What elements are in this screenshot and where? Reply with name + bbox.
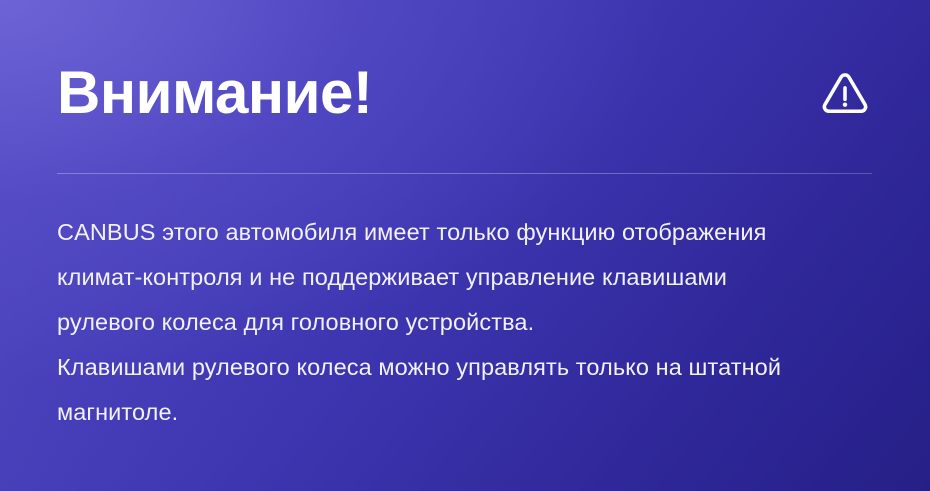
message-line: рулевого колеса для головного устройства…: [57, 300, 887, 345]
message-line: Клавишами рулевого колеса можно управлят…: [57, 345, 887, 390]
warning-banner: Внимание! CANBUS этого автомобиля имеет …: [0, 0, 930, 491]
message-line: магнитоле.: [57, 390, 887, 435]
banner-header: Внимание!: [57, 52, 874, 134]
message-line: CANBUS этого автомобиля имеет только фун…: [57, 210, 887, 255]
message-line: климат-контроля и не поддерживает управл…: [57, 255, 887, 300]
warning-triangle-icon: [818, 66, 874, 120]
header-divider: [57, 173, 872, 174]
warning-message: CANBUS этого автомобиля имеет только фун…: [57, 210, 887, 435]
page-title: Внимание!: [57, 59, 372, 127]
